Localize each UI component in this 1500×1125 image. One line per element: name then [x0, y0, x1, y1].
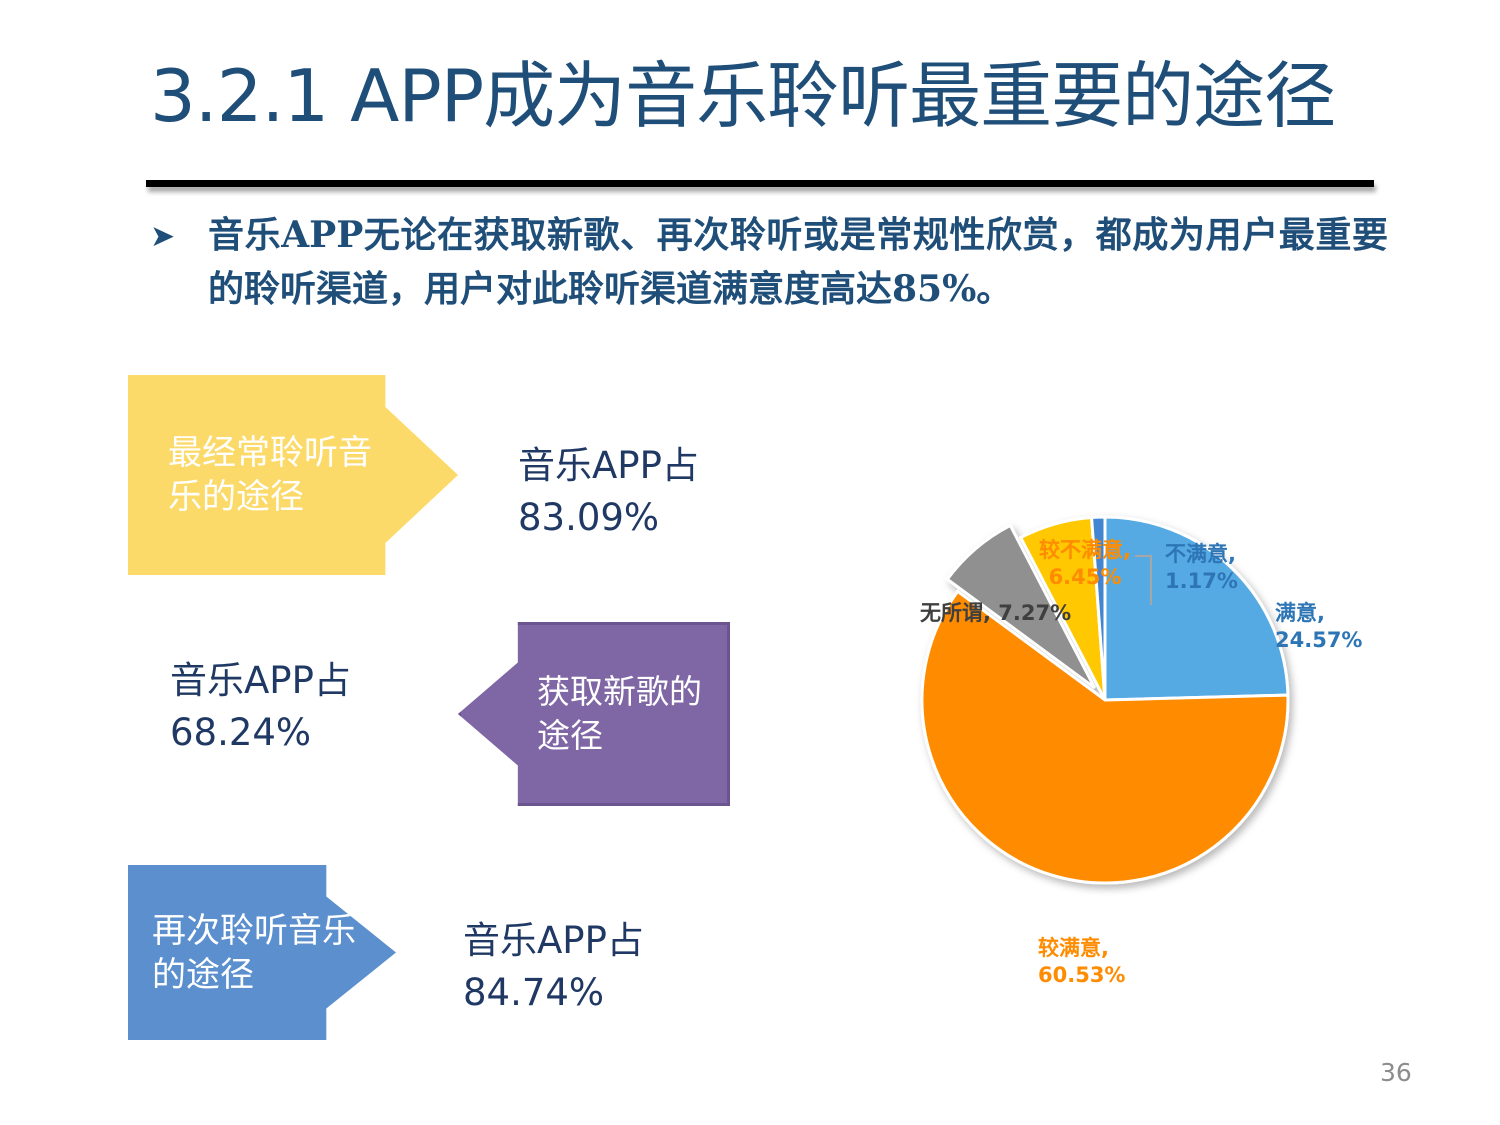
leader-line-vertical: [1150, 555, 1152, 605]
bullet-text: 音乐APP无论在获取新歌、再次聆听或是常规性欣赏，都成为用户最重要的聆听渠道，用…: [208, 208, 1388, 316]
callout-new-song-acquisition-channel[interactable]: 获取新歌的途径: [458, 622, 730, 806]
pie-label-jiaobumanyi: 较不满意, 6.45%: [1025, 537, 1145, 591]
title-divider: [146, 180, 1374, 187]
callout-value-new-song: 音乐APP占 68.24%: [170, 655, 351, 759]
page-number: 36: [1380, 1058, 1440, 1088]
pie-label-wusuowei: 无所谓, 7.27%: [920, 600, 1071, 627]
callout-label: 最经常聆听音 乐的途径: [168, 431, 372, 519]
pie-label-bumanyi: 不满意, 1.17%: [1165, 541, 1290, 595]
slide-canvas: 3.2.1 APP成为音乐聆听最重要的途径 ➤ 音乐APP无论在获取新歌、再次聆…: [0, 0, 1500, 1125]
callout-value-repeat-listening: 音乐APP占 84.74%: [463, 915, 644, 1019]
page-title: 3.2.1 APP成为音乐聆听最重要的途径: [150, 42, 1380, 152]
pie-label-manyi: 满意, 24.57%: [1275, 600, 1362, 654]
callout-label: 再次聆听音乐 的途径: [152, 909, 356, 997]
pie-label-jiaomanyi: 较满意, 60.53%: [1038, 935, 1125, 989]
bullet-arrow-icon: ➤: [150, 222, 184, 252]
pie-graphic: 满意, 24.57% 较满意, 60.53% 无所谓, 7.27% 较不满意, …: [920, 515, 1290, 885]
callout-label: 获取新歌的途径: [537, 670, 727, 758]
callout-most-frequent-listening-channel[interactable]: 最经常聆听音 乐的途径: [128, 375, 458, 575]
satisfaction-pie-chart: 满意, 24.57% 较满意, 60.53% 无所谓, 7.27% 较不满意, …: [820, 440, 1440, 960]
callout-repeat-listening-channel[interactable]: 再次聆听音乐 的途径: [128, 865, 396, 1040]
callout-value-most-frequent: 音乐APP占 83.09%: [518, 440, 699, 544]
